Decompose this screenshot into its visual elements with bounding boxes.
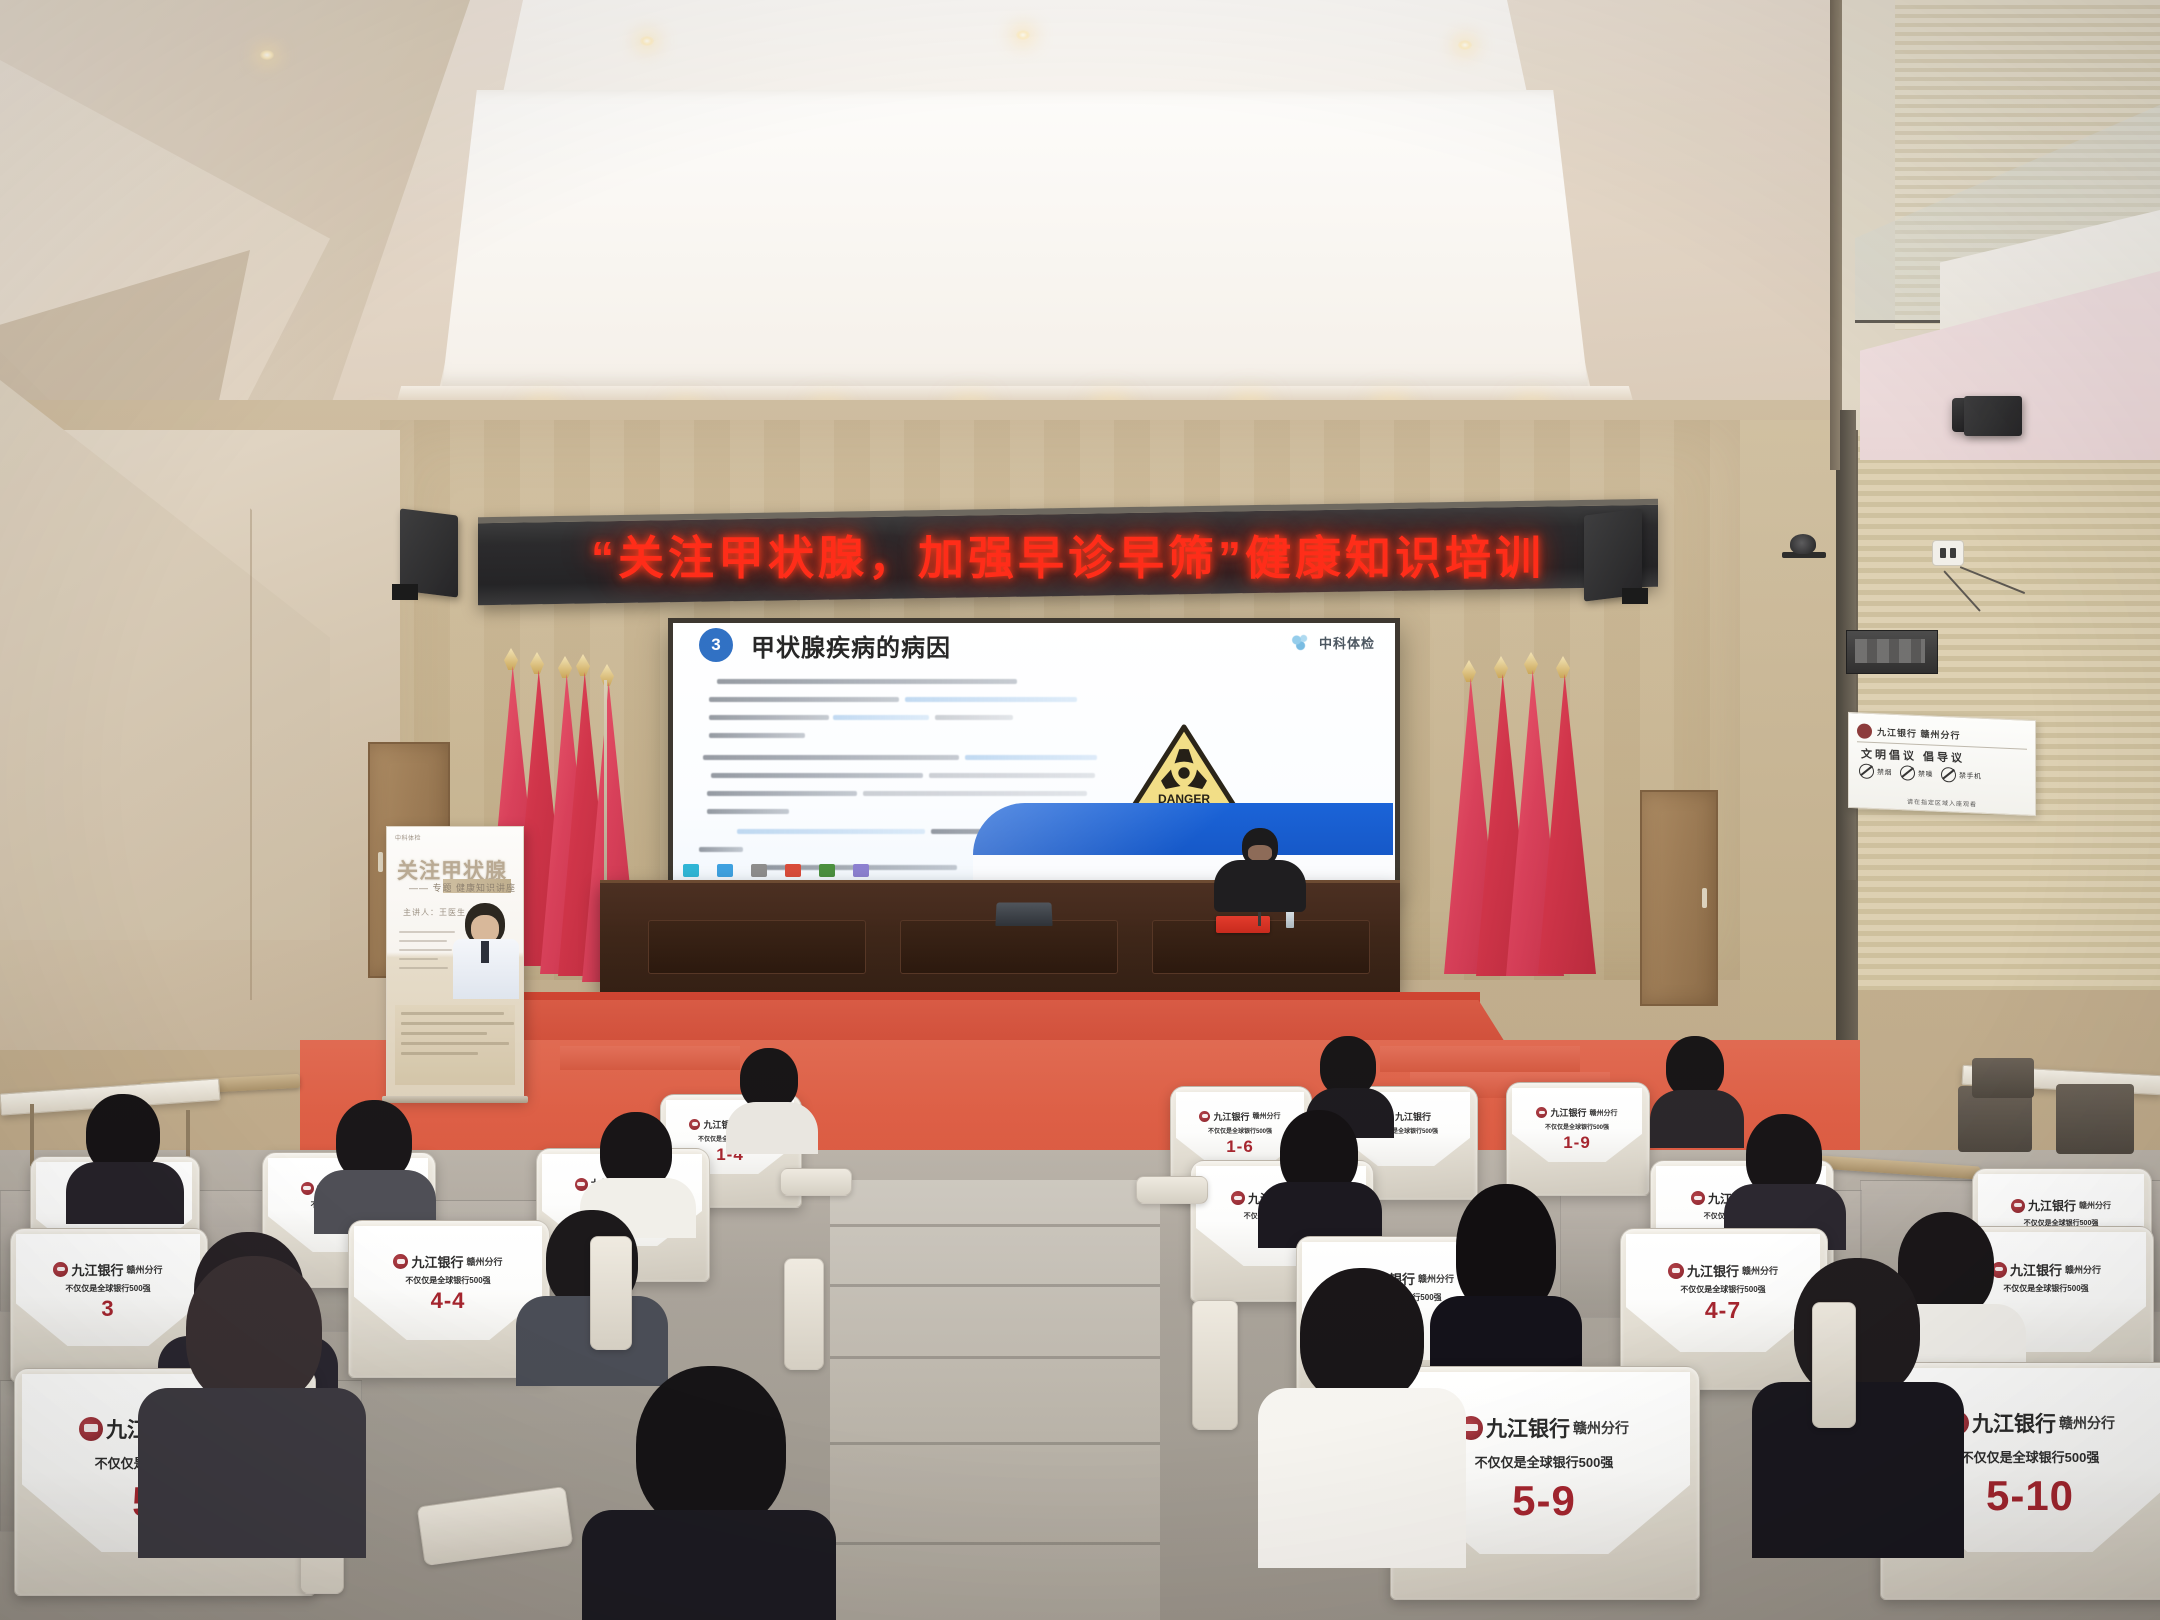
seat-number: 5-9 [1512,1477,1576,1525]
chair-armrest [1192,1300,1238,1430]
person-shoulders [1258,1388,1466,1568]
seat-cover-slogan: 不仅仅是全球银行500强 [2003,1283,2088,1294]
side-chair[interactable] [1972,1058,2034,1098]
ceiling-downlight [1016,30,1030,40]
seat-cover-logo: 九江银行 赣州分行 [2011,1197,2111,1214]
center-aisle-steps [830,1180,1160,1620]
rollup-body-text [399,931,455,976]
side-door-right[interactable] [1640,790,1718,1006]
slide-logo: 中科体检 [1290,632,1375,652]
presenter-face [1248,845,1272,861]
chair-armrest [590,1236,632,1350]
seat-cover-bank: 九江银行 [1486,1413,1570,1443]
seat-cover-branch: 赣州分行 [1590,1108,1618,1118]
seat-cover-branch: 赣州分行 [467,1255,503,1268]
seat-cover-bank: 九江银行 [71,1260,123,1279]
seat-cover-bank: 九江银行 [1213,1110,1249,1123]
presenter [1198,828,1318,932]
rollup-banner-base [382,1096,528,1103]
no-phone-icon [1900,765,1915,781]
seat-cover-branch: 赣州分行 [1573,1418,1629,1438]
seat-cover-bank: 九江银行 [1972,1408,2056,1438]
seat-cover-logo: 九江银行 赣州分行 [53,1260,162,1279]
person-head [1300,1268,1424,1404]
laptop[interactable] [995,903,1052,926]
person-head [186,1256,322,1406]
pdf-icon [683,864,699,877]
bank-logo-icon [689,1119,700,1130]
bank-logo-icon [301,1182,314,1195]
control-panel-grille [1855,639,1925,663]
seat-number: 5-10 [1986,1472,2074,1520]
wall-notice-sign: 九江银行 赣州分行 文明倡议 倡导议 禁烟 禁噪 禁手机 请在指定区域入座观看 [1848,712,2036,816]
bank-logo-icon [1668,1263,1684,1279]
rollup-subtitle: —— 专题 健康知识讲座 [409,881,516,894]
ppt-icon [785,864,801,877]
bank-logo-icon [53,1262,68,1277]
bank-logo-icon [393,1254,408,1269]
chair-writing-tablet [1136,1176,1208,1204]
link-icon [853,864,869,877]
wall-sign-footer: 请在指定区域入座观看 [1849,794,2035,811]
rule-item: 禁噪 [1900,765,1933,781]
stage-step [560,1046,740,1070]
clinic-logo-icon [1290,632,1312,652]
bank-logo-icon [2011,1199,2025,1213]
side-chair[interactable] [2056,1084,2134,1154]
rule-label: 禁噪 [1918,768,1933,779]
speaker-mount [1622,588,1648,604]
slide-footer-bar [973,855,1395,883]
excel-icon [819,864,835,877]
person-head [636,1366,786,1530]
seat-cover-bank: 九江银行 [411,1252,463,1271]
wall-sign-header: 九江银行 赣州分行 [1857,719,2027,749]
rule-item: 禁烟 [1859,763,1892,779]
chair-writing-tablet [780,1168,852,1196]
seat-cover-bank: 九江银行 [2010,1260,2062,1279]
person-shoulders [582,1510,836,1620]
seat-cover-slogan: 不仅仅是全球银行500强 [1208,1126,1272,1135]
presenter-body [1214,860,1306,912]
slide-logo-text: 中科体检 [1319,633,1375,652]
chair-armrest [1812,1302,1856,1428]
person-head [1456,1184,1556,1314]
seat-cover-branch: 赣州分行 [127,1263,163,1276]
right-wall-slats [1845,430,2160,990]
seat-cover-bank: 九江银行 [2028,1197,2076,1214]
no-litter-icon [1941,767,1956,783]
slide-number-badge: 3 [699,628,733,662]
ceiling-downlight [640,36,654,46]
ceiling-downlight [1458,40,1472,50]
seat-cover-logo: 九江银行 赣州分行 [1991,1260,2101,1279]
seat-cover-branch: 赣州分行 [1742,1264,1778,1277]
seat-cover-branch: 赣州分行 [1418,1272,1454,1285]
wall-sign-bank-name: 九江银行 赣州分行 [1877,725,1961,742]
ceiling-downlight [260,50,274,60]
upper-wall-speaker [1964,396,2022,436]
bank-logo-icon [1199,1111,1210,1122]
led-banner-text: “关注甲状腺，加强早诊早筛”健康知识培训 [591,522,1545,588]
door-handle[interactable] [378,852,383,872]
conference-hall-photo: “关注甲状腺，加强早诊早筛”健康知识培训 九江银行 赣 [0,0,2160,1620]
no-smoking-icon [1859,763,1874,779]
ceiling-recessed-panel [430,90,1600,390]
wall-socket [1932,540,1964,566]
wall-sign-title: 文明倡议 倡导议 [1861,745,1965,766]
seat-cover-slogan: 不仅仅是全球银行500强 [65,1283,150,1294]
person-shoulders [66,1162,184,1224]
seat-cover-slogan: 不仅仅是全球银行500强 [1545,1122,1609,1131]
bank-logo-icon [1857,723,1872,739]
podium-panel [648,920,866,974]
person-shoulders [726,1102,818,1154]
bank-logo-icon [1536,1107,1547,1118]
seat-cover-branch: 赣州分行 [2065,1263,2101,1276]
seat-cover-bank: 九江银行 [1550,1106,1586,1119]
seat-cover-slogan: 不仅仅是全球银行500强 [405,1275,490,1286]
seat-cover-branch: 赣州分行 [2079,1200,2111,1211]
seat-cover-bank: 九江银行 [1395,1110,1431,1123]
seat-cover-logo: 九江银行 赣州分行 [1199,1110,1280,1123]
rollup-logo: 中科体检 [395,833,421,842]
chair-armrest [784,1258,824,1370]
podium-panel [900,920,1118,974]
slide-title: 甲状腺疾病的病因 [751,628,951,663]
rule-item: 禁手机 [1941,767,1982,784]
seat-cover-logo: 九江银行 赣州分行 [1536,1106,1617,1119]
seat-cover-logo: 九江银行 赣州分行 [393,1252,502,1271]
door-handle[interactable] [1702,888,1707,908]
slide-footer-icons [683,864,869,877]
slide-blue-highlight [973,803,1393,855]
seat-cover-slogan: 不仅仅是全球银行500强 [1475,1452,1614,1471]
person-shoulders [138,1388,366,1558]
balcony-edge-trim [1830,0,1842,470]
bank-logo-icon [1231,1191,1245,1205]
seat-number: 1-9 [1563,1133,1591,1153]
bank-logo-icon [1691,1191,1705,1205]
rule-label: 禁手机 [1959,770,1982,781]
rollup-banner: 中科体检 关注甲状腺 —— 专题 健康知识讲座 主讲人：王医生 [386,826,524,1100]
seat-cover-bank: 九江银行 [1687,1261,1739,1280]
seat-cover-branch: 赣州分行 [2059,1413,2115,1433]
person-shoulders [1752,1382,1964,1558]
table-leg [30,1104,34,1166]
seat-number: 4-7 [1705,1297,1741,1324]
word-icon [717,864,733,877]
stage-step [1380,1046,1580,1072]
seat-number: 3 [101,1296,114,1322]
seat-cover-logo: 九江银行 赣州分行 [1945,1408,2115,1438]
slide-header: 3 甲状腺疾病的病因 中科体检 [673,623,1395,667]
rule-label: 禁烟 [1877,767,1892,778]
doc-icon [751,864,767,877]
wall-sign-rules: 禁烟 禁噪 禁手机 [1859,763,1982,783]
person-shoulders [1650,1090,1744,1148]
rollup-lower-block [395,1005,515,1085]
person-head [740,1048,798,1110]
led-banner: “关注甲状腺，加强早诊早筛”健康知识培训 [478,499,1658,606]
wall-control-panel[interactable] [1846,630,1938,674]
rollup-speaker-line: 主讲人：王医生 [403,907,466,918]
seat-cover-slogan: 不仅仅是全球银行500强 [1961,1447,2100,1466]
person-head [1666,1036,1724,1098]
person-head [1320,1036,1376,1096]
bank-logo-icon [79,1417,103,1441]
ptz-camera-icon [1790,534,1816,554]
seat-number: 1-6 [1226,1137,1254,1157]
doctor-photo-tie [481,941,489,963]
speaker-mount [392,584,418,600]
seat-cover-logo: 九江银行 赣州分行 [1668,1261,1778,1280]
seat-number: 4-4 [431,1288,466,1314]
seat-cover-slogan: 不仅仅是全球银行500强 [1680,1284,1765,1295]
seat-cover-branch: 赣州分行 [1253,1111,1281,1121]
seat-cover-logo: 九江银行 赣州分行 [1459,1413,1629,1443]
